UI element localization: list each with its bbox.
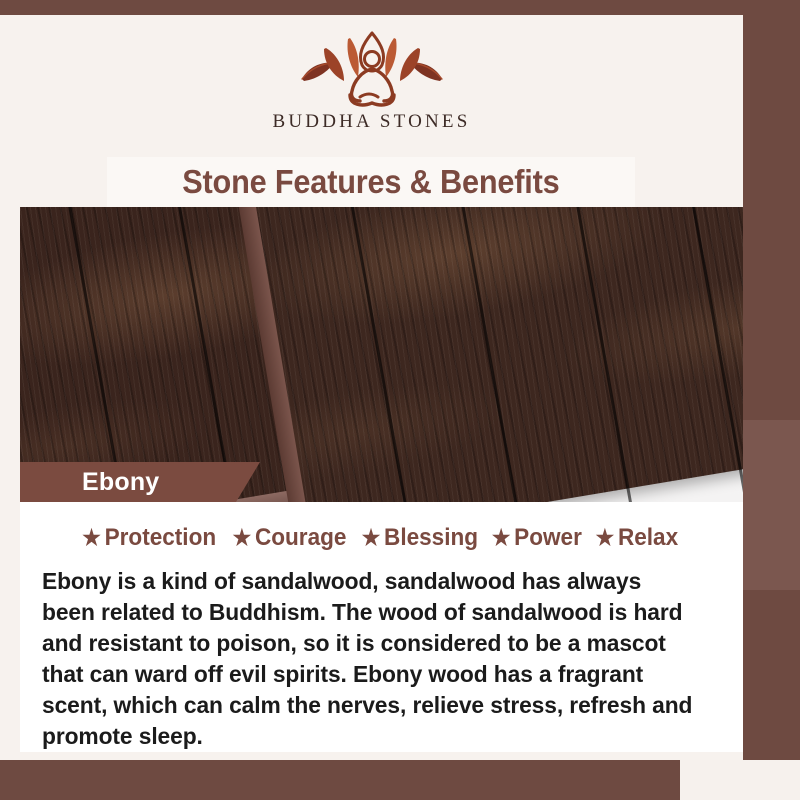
benefit-item: ★ Relax xyxy=(596,524,679,552)
product-image xyxy=(20,207,743,502)
wood-plank-group-right xyxy=(245,207,743,502)
star-icon: ★ xyxy=(492,527,511,549)
brand-name: BUDDHA STONES xyxy=(272,111,470,133)
brand-header: BUDDHA STONES xyxy=(0,15,743,145)
wood-grain-texture xyxy=(245,207,743,502)
benefit-label: Power xyxy=(515,524,583,552)
frame-bottom-right-notch xyxy=(680,760,800,800)
benefit-label: Protection xyxy=(105,524,217,552)
product-label: Ebony xyxy=(82,468,159,497)
star-icon: ★ xyxy=(361,527,380,549)
product-label-banner: Ebony xyxy=(20,462,260,502)
frame-bottom-bar xyxy=(0,760,760,800)
frame-right-bevel xyxy=(743,420,800,590)
frame-right-bar xyxy=(743,0,800,590)
frame-top-bar xyxy=(0,0,800,15)
benefit-item: ★ Blessing xyxy=(361,524,477,552)
poster-root: BUDDHA STONES Stone Features & Benefits xyxy=(0,0,800,800)
benefits-list: ★ Protection ★ Courage ★ Blessing ★ Powe… xyxy=(42,524,717,552)
page-title: Stone Features & Benefits xyxy=(182,163,559,201)
star-icon: ★ xyxy=(82,527,101,549)
poster-canvas: BUDDHA STONES Stone Features & Benefits xyxy=(0,15,743,760)
benefit-label: Blessing xyxy=(384,524,478,552)
benefit-label: Relax xyxy=(618,524,678,552)
benefit-label: Courage xyxy=(254,524,346,552)
title-band: Stone Features & Benefits xyxy=(107,157,635,207)
benefit-item: ★ Courage xyxy=(232,524,346,552)
benefit-item: ★ Power xyxy=(492,524,582,552)
benefit-item: ★ Protection xyxy=(82,524,216,552)
star-icon: ★ xyxy=(232,527,251,549)
star-icon: ★ xyxy=(596,527,615,549)
lotus-meditation-logo-icon xyxy=(288,29,456,107)
content-panel: ★ Protection ★ Courage ★ Blessing ★ Powe… xyxy=(20,502,743,752)
description-text: Ebony is a kind of sandalwood, sandalwoo… xyxy=(42,566,697,752)
